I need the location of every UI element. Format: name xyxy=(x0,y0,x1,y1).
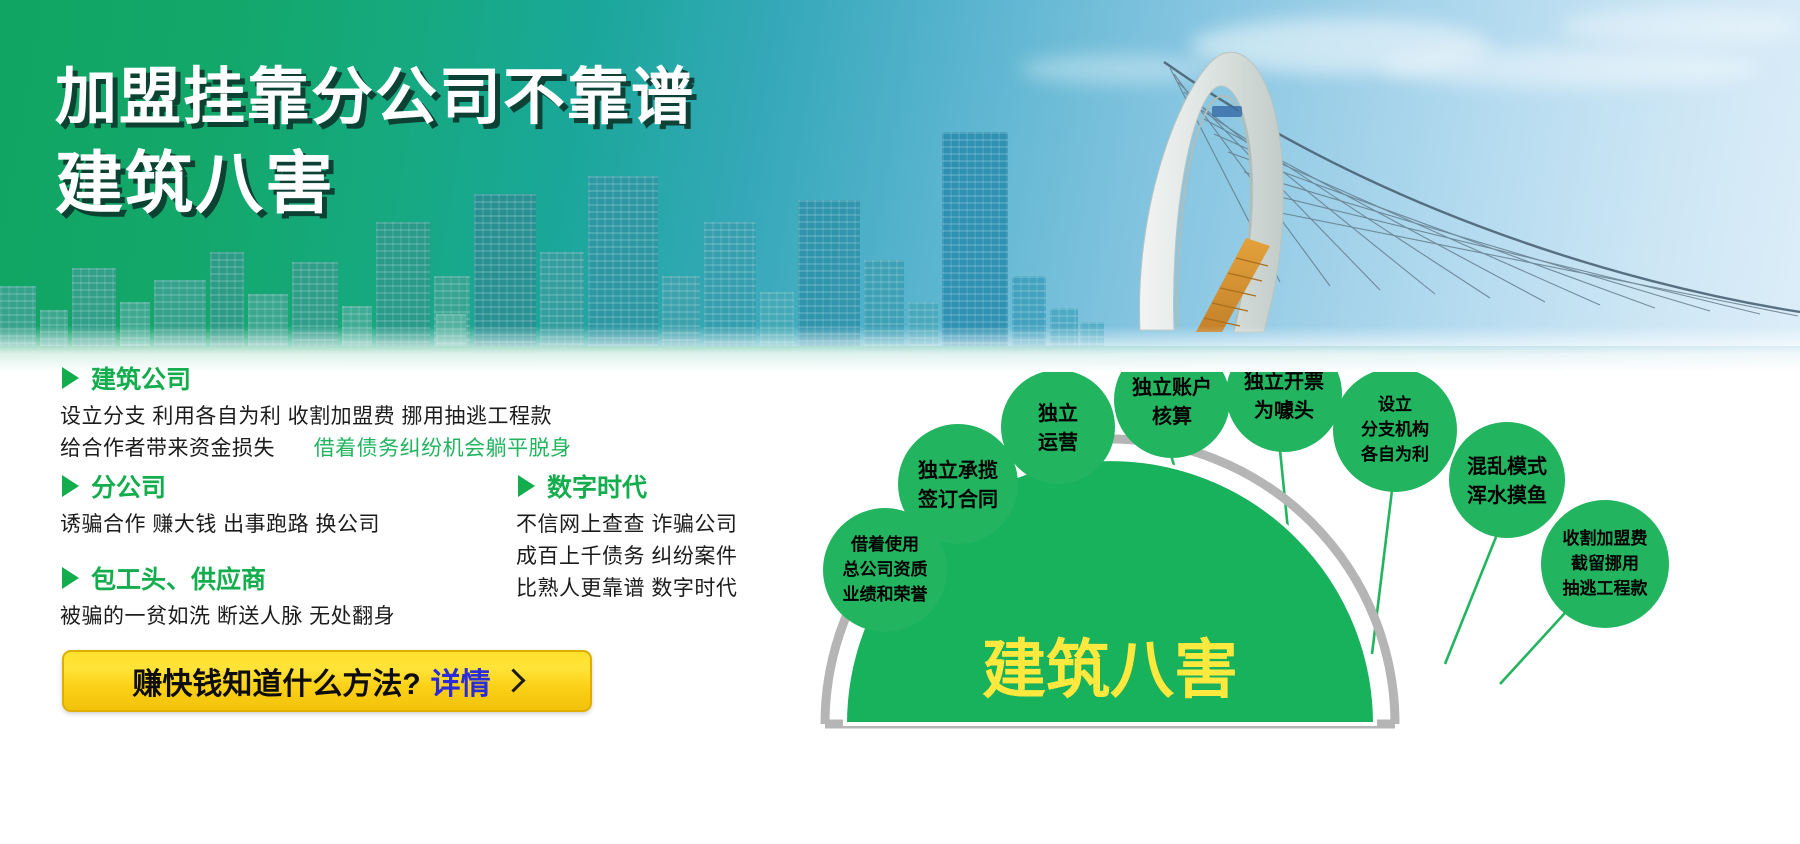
bubble-b4[interactable]: 独立账户 核算 xyxy=(1114,372,1230,458)
hero-title-line2: 建筑八害 xyxy=(55,138,695,230)
section-body-black-text: 给合作者带来资金损失 xyxy=(60,437,275,460)
bubble-line: 独立承揽 xyxy=(918,458,998,482)
triangle-bullet-icon xyxy=(62,475,79,497)
bubble-b3[interactable]: 独立 运营 xyxy=(1001,372,1115,484)
section-heading-label: 包工头、供应商 xyxy=(91,560,266,596)
section-heading-construction-company: 建筑公司 xyxy=(62,360,191,396)
bubble-b6[interactable]: 设立 分支机构 各自为利 xyxy=(1333,372,1457,492)
bubble-line: 截留挪用 xyxy=(1571,553,1639,573)
bubble-b8[interactable]: 收割加盟费 截留挪用 抽逃工程款 xyxy=(1541,500,1669,628)
section-heading-label: 分公司 xyxy=(91,468,166,504)
section-body-line: 设立分支 利用各自为利 收割加盟费 挪用抽逃工程款 xyxy=(60,400,552,430)
section-heading-contractor-supplier: 包工头、供应商 xyxy=(62,560,266,596)
bubble-diagram: 建筑八害 借着使用 总公司资质 业绩和荣誉 独立承揽 签订合同 独立 运营 xyxy=(800,372,1800,844)
section-heading-label: 建筑公司 xyxy=(91,360,191,396)
bubble-line: 独立账户 xyxy=(1132,375,1212,399)
bubble-b5[interactable]: 独立开票 为噱头 xyxy=(1226,372,1342,452)
bubble-line: 独立 xyxy=(1038,401,1078,425)
bubble-line: 签订合同 xyxy=(917,487,998,511)
section-body-line: 被骗的一贫如洗 断送人脉 无处翻身 xyxy=(60,600,395,630)
bubble-line: 混乱模式 xyxy=(1467,454,1547,478)
cta-detail-link[interactable]: 详情 xyxy=(431,659,491,703)
bubble-line: 收割加盟费 xyxy=(1563,528,1648,548)
cta-main-label: 赚快钱知道什么方法? xyxy=(132,659,420,703)
bubble-line: 分支机构 xyxy=(1361,419,1429,439)
chevron-right-icon xyxy=(501,668,525,692)
section-heading-branch-company: 分公司 xyxy=(62,468,166,504)
bubble-line: 核算 xyxy=(1152,404,1192,428)
poster-page: 加盟挂靠分公司不靠谱 建筑八害 建筑公司 设立分支 利用各自为利 收割加盟费 挪… xyxy=(0,0,1800,844)
bubble-line: 总公司资质 xyxy=(843,559,928,579)
triangle-bullet-icon xyxy=(62,567,79,589)
triangle-bullet-icon xyxy=(518,475,535,497)
bubble-line: 运营 xyxy=(1038,430,1078,454)
dome-center-label: 建筑八害 xyxy=(982,634,1238,706)
hero-banner: 加盟挂靠分公司不靠谱 建筑八害 xyxy=(0,0,1800,372)
section-body-line: 不信网上查查 诈骗公司 xyxy=(516,508,737,538)
hero-bottom-fade xyxy=(0,326,1800,372)
bubble-line: 浑水摸鱼 xyxy=(1467,483,1547,507)
bubble-line: 业绩和荣誉 xyxy=(843,584,929,604)
section-body-line: 比熟人更靠谱 数字时代 xyxy=(516,572,737,602)
triangle-bullet-icon xyxy=(62,367,79,389)
left-content-column: 建筑公司 设立分支 利用各自为利 收割加盟费 挪用抽逃工程款 给合作者带来资金损… xyxy=(0,380,830,844)
section-heading-label: 数字时代 xyxy=(547,468,647,504)
section-body-green-text: 借着债务纠纷机会躺平脱身 xyxy=(314,437,572,460)
bubble-line: 各自为利 xyxy=(1360,444,1429,464)
hero-title-line1: 加盟挂靠分公司不靠谱 xyxy=(55,58,695,138)
section-body-line: 给合作者带来资金损失 借着债务纠纷机会躺平脱身 xyxy=(60,432,572,462)
cta-button[interactable]: 赚快钱知道什么方法? 详情 xyxy=(62,650,592,712)
bubble-line: 抽逃工程款 xyxy=(1563,578,1649,598)
section-body-line: 成百上千债务 纠纷案件 xyxy=(516,540,737,570)
section-body-line: 诱骗合作 赚大钱 出事跑路 换公司 xyxy=(60,508,380,538)
bubble-line: 设立 xyxy=(1378,394,1412,414)
bubble-b2[interactable]: 独立承揽 签订合同 xyxy=(898,424,1018,544)
bubble-line: 借着使用 xyxy=(850,534,919,554)
hero-title: 加盟挂靠分公司不靠谱 建筑八害 xyxy=(55,58,695,230)
section-heading-digital-era: 数字时代 xyxy=(518,468,647,504)
bubble-line: 为噱头 xyxy=(1254,399,1314,422)
bubble-line: 独立开票 xyxy=(1244,372,1324,393)
bubble-b7[interactable]: 混乱模式 浑水摸鱼 xyxy=(1449,422,1565,538)
